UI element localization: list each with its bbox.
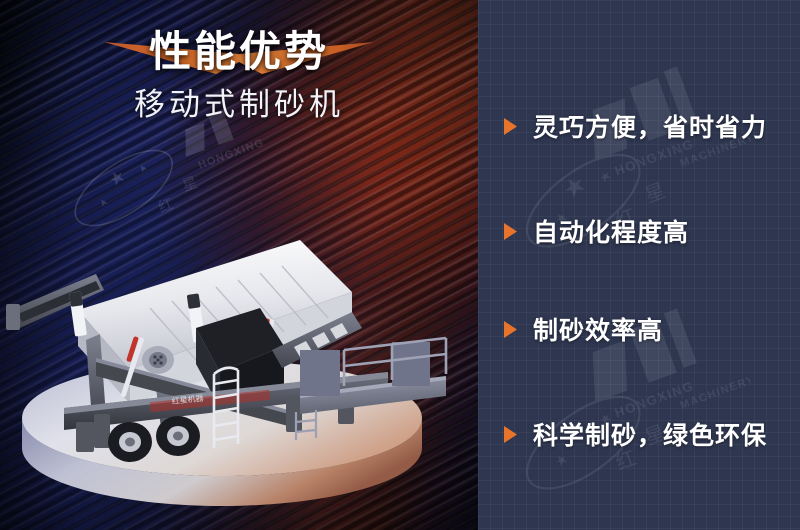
- feature-item-1[interactable]: 灵巧方便，省时省力: [504, 108, 767, 144]
- feature-item-4[interactable]: 科学制砂，绿色环保: [504, 416, 767, 452]
- feature-label: 灵巧方便，省时省力: [533, 108, 767, 144]
- title-block: 性能优势 移动式制砂机: [0, 24, 478, 124]
- triangle-right-icon: [504, 426, 517, 443]
- feature-item-3[interactable]: 制砂效率高: [504, 311, 663, 347]
- feature-label: 自动化程度高: [533, 213, 689, 249]
- feature-label: 科学制砂，绿色环保: [533, 416, 767, 452]
- page-title: 性能优势: [0, 24, 478, 80]
- page-subtitle: 移动式制砂机: [0, 86, 478, 124]
- features-panel: 红 星 HONGXING MACHINERY: [478, 0, 800, 530]
- triangle-right-icon: [504, 223, 517, 240]
- product-image: 红星机器: [0, 200, 478, 530]
- left-visual-panel: 红 星 HONGXING: [0, 0, 478, 530]
- feature-label: 制砂效率高: [533, 311, 663, 347]
- promo-banner: 红 星 HONGXING: [0, 0, 800, 530]
- triangle-right-icon: [504, 321, 517, 338]
- triangle-right-icon: [504, 118, 517, 135]
- feature-item-2[interactable]: 自动化程度高: [504, 213, 689, 249]
- feature-list: 灵巧方便，省时省力 自动化程度高 制砂效率高 科学制砂，绿色环保: [478, 0, 800, 530]
